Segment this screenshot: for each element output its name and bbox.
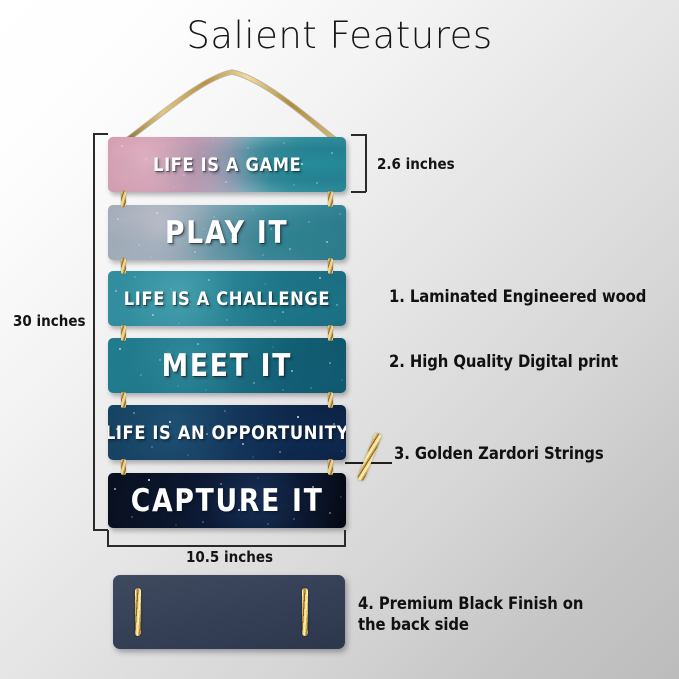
zardori-string-sample — [357, 433, 382, 482]
feature-item-1: 1. Laminated Engineered wood — [389, 286, 646, 307]
page-title: Salient Features — [0, 14, 679, 57]
cord-link-right-2 — [328, 258, 333, 274]
width-bracket-right-tick — [344, 530, 346, 546]
plank-height-bracket-top-tick — [351, 134, 366, 136]
plank-1-label: LIFE IS A GAME — [153, 154, 301, 176]
infographic-canvas: Salient Features — [0, 0, 679, 679]
hanging-cord — [100, 58, 360, 144]
feature-item-3: 3. Golden Zardori Strings — [394, 443, 604, 464]
plank-height-bracket-bottom-tick — [351, 191, 366, 193]
plank-3-label: LIFE IS A CHALLENGE — [124, 288, 330, 310]
width-bracket-left-tick — [107, 530, 109, 546]
plank-6: CAPTURE IT — [108, 473, 346, 528]
cord-link-left-5 — [121, 459, 126, 475]
cord-link-left-4 — [121, 392, 126, 408]
height-bracket-top-tick — [93, 133, 108, 135]
cord-link-right-5 — [328, 459, 333, 475]
plank-5-label: LIFE IS AN OPPORTUNITY — [108, 422, 346, 444]
feature-item-4: 4. Premium Black Finish on the back side — [358, 593, 583, 635]
height-bracket-vertical — [93, 133, 95, 531]
cord-link-left-2 — [121, 258, 126, 274]
plank-height-dimension-label: 2.6 inches — [377, 155, 455, 173]
plank-2-label: PLAY IT — [165, 215, 288, 251]
plank-5: LIFE IS AN OPPORTUNITY — [108, 405, 346, 460]
width-dimension-label: 10.5 inches — [186, 548, 273, 566]
cord-link-left-1 — [121, 191, 126, 207]
plaque-stack: LIFE IS A GAME PLAY IT — [108, 137, 346, 529]
plank-2: PLAY IT — [108, 205, 346, 260]
plank-4: MEET IT — [108, 338, 346, 393]
cord-link-left-3 — [121, 325, 126, 341]
cord-link-right-4 — [328, 392, 333, 408]
cord-link-right-3 — [328, 325, 333, 341]
plank-3: LIFE IS A CHALLENGE — [108, 271, 346, 326]
plank-6-label: CAPTURE IT — [131, 483, 324, 519]
height-dimension-label: 30 inches — [13, 312, 86, 330]
plank-1: LIFE IS A GAME — [108, 137, 346, 192]
height-bracket-bottom-tick — [93, 529, 108, 531]
feature-item-2: 2. High Quality Digital print — [389, 351, 618, 372]
width-bracket-horizontal — [107, 545, 346, 547]
back-plate-string-right — [302, 588, 308, 636]
plank-4-label: MEET IT — [162, 348, 293, 384]
back-plate — [113, 575, 345, 649]
cord-link-right-1 — [328, 191, 333, 207]
plank-height-bracket-vertical — [365, 134, 367, 192]
back-plate-string-left — [135, 588, 141, 636]
